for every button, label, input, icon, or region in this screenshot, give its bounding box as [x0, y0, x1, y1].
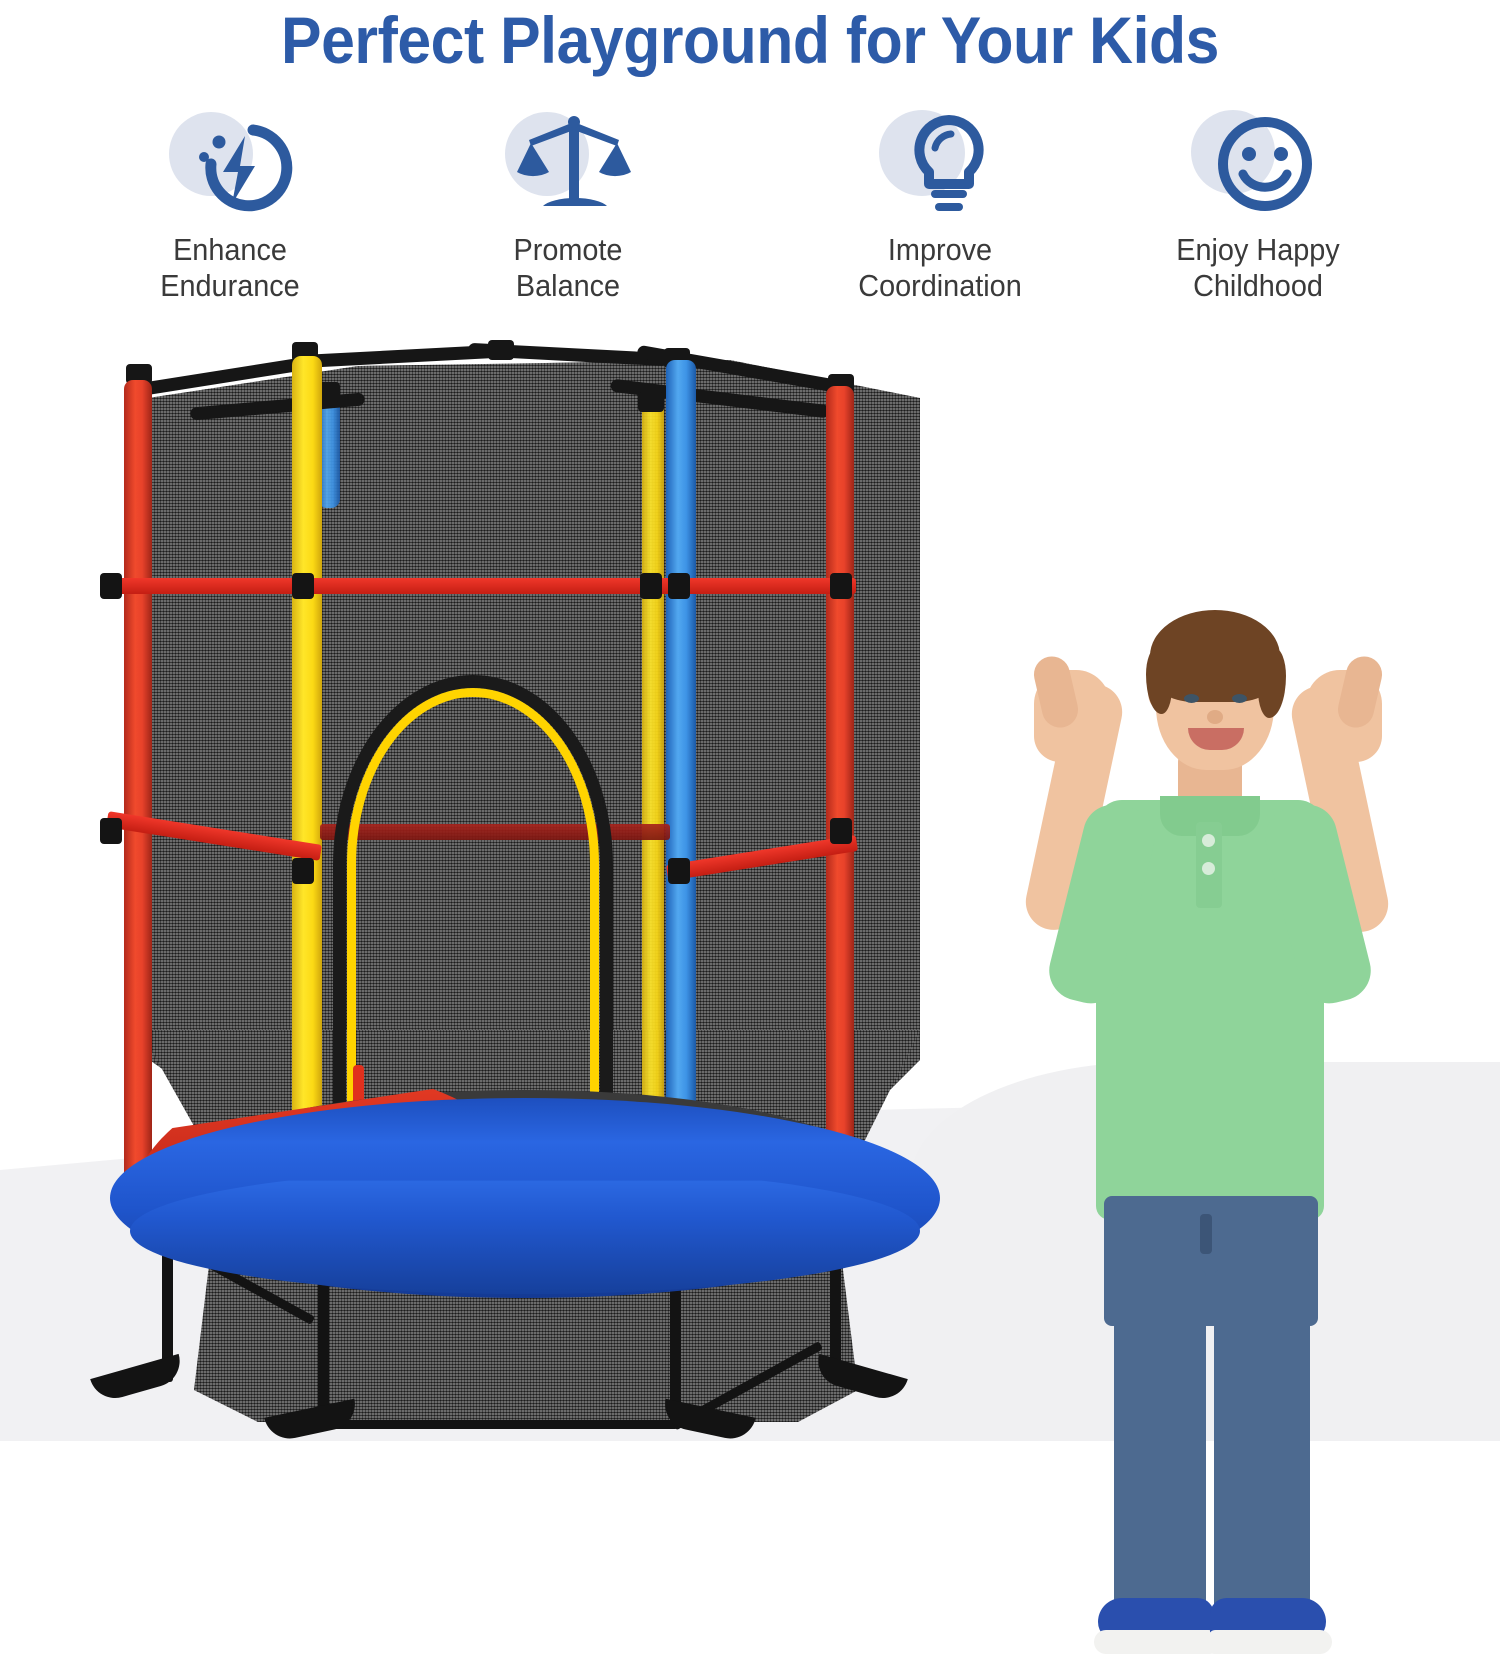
spring-safety-pad: [110, 1072, 940, 1302]
feature-benefits-strip: Enhance Endurance Promote Balance: [0, 106, 1500, 336]
nose: [1207, 710, 1223, 724]
band-clip: [830, 573, 852, 599]
jeans-fly: [1200, 1214, 1212, 1254]
feature-label: Improve Coordination: [801, 232, 1080, 304]
feature-label-line1: Improve: [801, 232, 1080, 268]
pad-segment-blue-front: [130, 1168, 920, 1294]
shirt-button: [1202, 862, 1215, 875]
shirt-button: [1202, 834, 1215, 847]
band-clip: [100, 573, 122, 599]
feature-label-line1: Enjoy Happy: [1119, 232, 1398, 268]
child-model-photo: [1010, 470, 1440, 1450]
band-clip: [292, 858, 314, 884]
feature-label: Enhance Endurance: [91, 232, 370, 304]
jeans-leg-left: [1114, 1270, 1206, 1618]
feature-item-promote-balance: Promote Balance: [418, 106, 718, 304]
shoe-sole-left: [1094, 1630, 1216, 1654]
feature-label-line2: Endurance: [91, 268, 370, 304]
hair-side-right: [1258, 648, 1286, 718]
enclosure-band-upper: [104, 578, 856, 594]
feature-label-line1: Promote: [429, 232, 708, 268]
feature-label: Promote Balance: [429, 232, 708, 304]
band-clip: [100, 818, 122, 844]
pole-cap: [638, 392, 664, 412]
band-clip: [668, 858, 690, 884]
trampoline-product-image: [70, 330, 970, 1441]
feature-label-line2: Balance: [429, 268, 708, 304]
product-scene: [0, 330, 1500, 1441]
jeans-leg-right: [1214, 1270, 1310, 1618]
band-clip: [668, 573, 690, 599]
band-clip: [640, 573, 662, 599]
feature-label-line1: Enhance: [91, 232, 370, 268]
shoe-sole-right: [1208, 1630, 1332, 1654]
frame-foot: [90, 1354, 186, 1404]
left-eye: [1184, 694, 1199, 703]
feature-label: Enjoy Happy Childhood: [1119, 232, 1398, 304]
pole-cap: [488, 340, 514, 360]
feature-item-improve-coordination: Improve Coordination: [790, 106, 1090, 304]
smiley-face-icon: [1183, 106, 1333, 226]
feature-label-line2: Childhood: [1119, 268, 1398, 304]
page-title: Perfect Playground for Your Kids: [60, 2, 1440, 78]
frame-brace: [326, 1420, 678, 1429]
feature-item-enjoy-happy-childhood: Enjoy Happy Childhood: [1108, 106, 1408, 304]
feature-item-enhance-endurance: Enhance Endurance: [80, 106, 380, 304]
balance-scale-icon: [493, 106, 643, 226]
lightbulb-icon: [865, 106, 1015, 226]
hair-side-left: [1146, 648, 1172, 714]
band-clip: [292, 573, 314, 599]
feature-label-line2: Coordination: [801, 268, 1080, 304]
right-eye: [1232, 694, 1247, 703]
lightning-ring-icon: [155, 106, 305, 226]
band-clip: [830, 818, 852, 844]
